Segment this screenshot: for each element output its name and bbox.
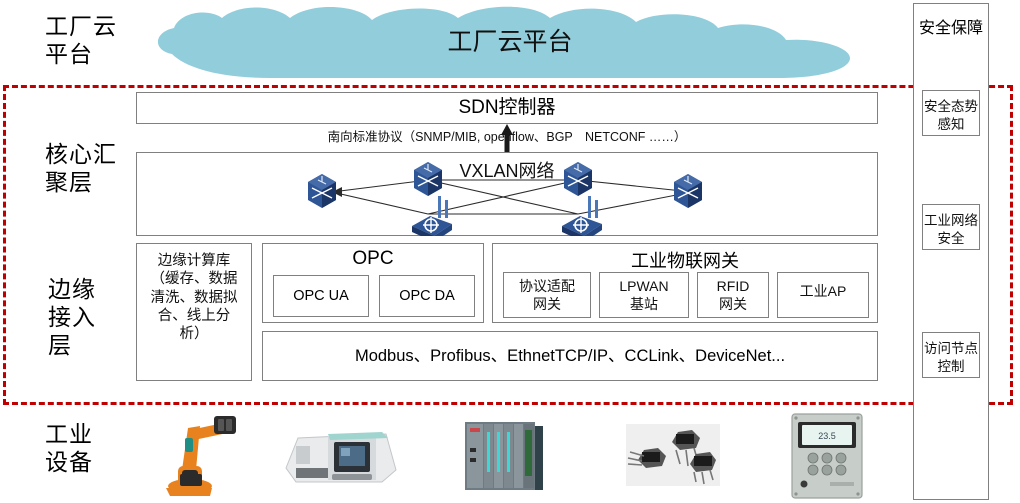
svg-text:23.5: 23.5	[818, 431, 836, 441]
sdn-controller-box[interactable]: SDN控制器	[136, 92, 878, 124]
industrial-robot-arm	[152, 412, 248, 500]
plc-rack-icon	[463, 418, 545, 494]
wireless-router-icon	[412, 196, 602, 236]
cnc-machine	[282, 424, 400, 490]
industrial-ap-label: 工业AP	[778, 273, 868, 309]
sensor-icon	[626, 424, 720, 486]
sdn-controller-label: SDN控制器	[137, 93, 877, 123]
protocol-adapter-gateway-label: 协议适配 网关	[504, 273, 590, 313]
opc-ua-box[interactable]: OPC UA	[273, 275, 369, 317]
opc-title: OPC	[263, 248, 483, 270]
layer-label-cloud: 工厂云 平台	[45, 12, 117, 68]
access-node-control-label: 访问节点 控制	[923, 333, 979, 375]
plc-rack	[463, 418, 545, 494]
industrial-ap-box[interactable]: 工业AP	[777, 272, 869, 318]
access-node-control-box[interactable]: 访问节点 控制	[922, 332, 980, 378]
cnc-machine-icon	[282, 424, 400, 490]
lpwan-base-station-label: LPWAN 基站	[600, 273, 688, 313]
security-column-title: 安全保障	[914, 14, 988, 38]
security-column: 安全保障	[913, 3, 989, 500]
fieldbus-protocols-label: Modbus、Profibus、EthnetTCP/IP、CCLink、Devi…	[263, 332, 877, 380]
factory-cloud-shape: 工厂云平台	[150, 2, 870, 82]
rfid-gateway-box[interactable]: RFID 网关	[697, 272, 769, 318]
protocol-adapter-gateway-box[interactable]: 协议适配 网关	[503, 272, 591, 318]
opc-da-label: OPC DA	[380, 276, 474, 316]
iiot-gateway-title: 工业物联网关	[493, 247, 877, 273]
control-panel-icon: 23.5	[790, 412, 864, 500]
architecture-diagram: 工厂云 平台 核心汇 聚层 边缘 接入 层 工业 设备 工厂云平台 SDN控制器…	[0, 0, 1020, 503]
rfid-gateway-label: RFID 网关	[698, 273, 768, 313]
security-situation-awareness-box[interactable]: 安全态势 感知	[922, 90, 980, 136]
vxlan-topology	[136, 152, 878, 236]
control-panel-meter: 23.5	[790, 412, 864, 500]
lpwan-base-station-box[interactable]: LPWAN 基站	[599, 272, 689, 318]
security-situation-awareness-label: 安全态势 感知	[923, 91, 979, 133]
sensor-components	[626, 424, 720, 486]
layer-label-device: 工业 设备	[45, 420, 93, 476]
industrial-network-security-box[interactable]: 工业网络 安全	[922, 204, 980, 250]
opc-box: OPC OPC UA OPC DA	[262, 243, 484, 323]
industrial-network-security-label: 工业网络 安全	[923, 205, 979, 247]
iiot-gateway-box: 工业物联网关 协议适配 网关 LPWAN 基站 RFID 网关 工业AP	[492, 243, 878, 323]
layer-label-edge: 边缘 接入 层	[48, 275, 96, 359]
robot-arm-icon	[152, 412, 248, 500]
upward-arrow-icon	[500, 124, 514, 152]
cloud-label: 工厂云平台	[150, 22, 870, 58]
edge-compute-library-box[interactable]: 边缘计算库 （缓存、数据 清洗、数据拟 合、线上分 析）	[136, 243, 252, 381]
layer-label-core: 核心汇 聚层	[45, 140, 117, 196]
opc-ua-label: OPC UA	[274, 276, 368, 316]
fieldbus-protocols-box: Modbus、Profibus、EthnetTCP/IP、CCLink、Devi…	[262, 331, 878, 381]
opc-da-box[interactable]: OPC DA	[379, 275, 475, 317]
edge-compute-library-label: 边缘计算库 （缓存、数据 清洗、数据拟 合、线上分 析）	[137, 244, 251, 343]
